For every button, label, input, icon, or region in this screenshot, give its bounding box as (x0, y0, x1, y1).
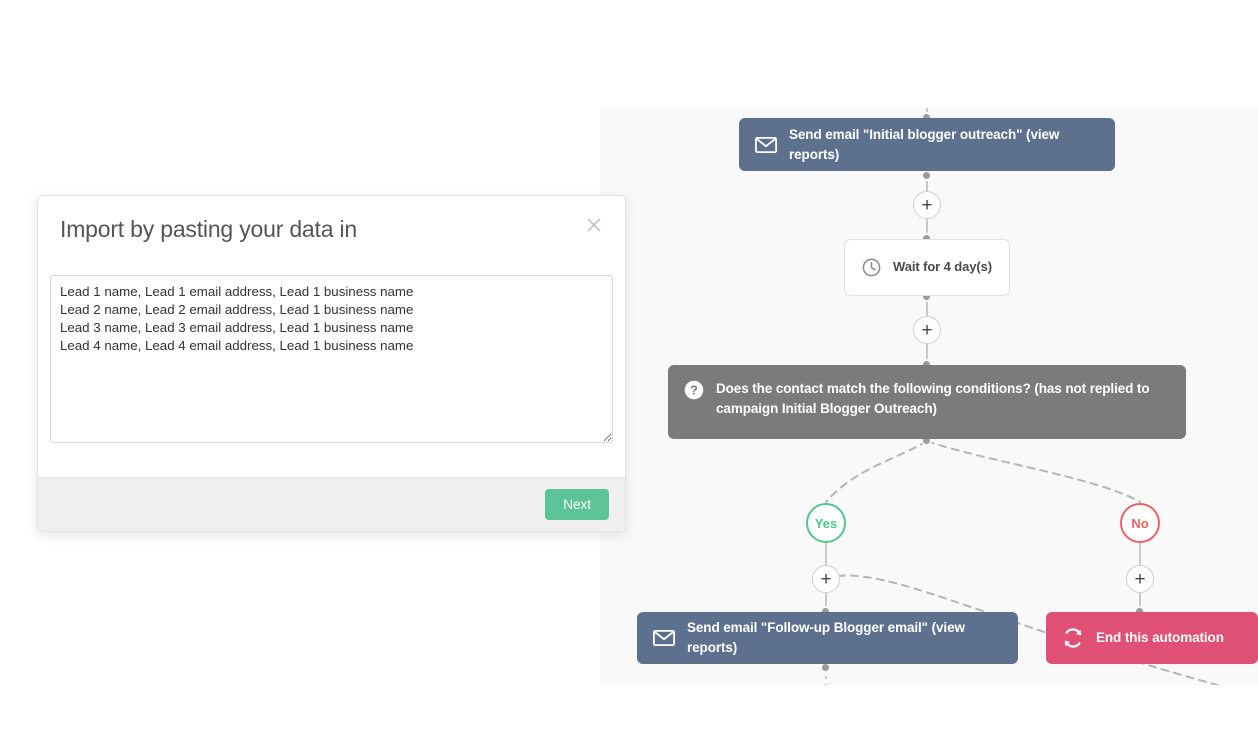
clock-icon (862, 258, 881, 277)
close-icon[interactable] (582, 213, 606, 237)
node-label: Send email "Initial blogger outreach" (v… (789, 125, 1099, 164)
refresh-cycle-icon (1062, 627, 1084, 649)
branch-circle-no[interactable]: No (1120, 503, 1160, 543)
node-label: Does the contact match the following con… (716, 379, 1170, 418)
add-step-button[interactable]: + (913, 191, 941, 219)
node-label: Send email "Follow-up Blogger email" (vi… (687, 618, 1002, 657)
next-button[interactable]: Next (545, 489, 609, 520)
envelope-icon (755, 137, 777, 153)
add-step-button[interactable]: + (913, 316, 941, 344)
node-label: Wait for 4 day(s) (893, 258, 992, 277)
branch-circle-yes[interactable]: Yes (806, 503, 846, 543)
svg-text:?: ? (690, 383, 698, 398)
plus-icon: + (921, 321, 932, 340)
page-title: Import by pasting your data in (60, 216, 357, 243)
add-step-button[interactable]: + (1126, 565, 1154, 593)
automation-node-end-automation[interactable]: End this automation (1046, 612, 1258, 664)
connector-dot (921, 170, 932, 181)
modal-header: Import by pasting your data in (38, 196, 625, 263)
plus-icon: + (1134, 570, 1145, 589)
question-mark-icon: ? (684, 380, 704, 400)
branch-label-no: No (1131, 516, 1148, 531)
automation-node-send-email-followup[interactable]: Send email "Follow-up Blogger email" (vi… (637, 612, 1018, 664)
modal-footer: Next (38, 477, 625, 531)
branch-label-yes: Yes (815, 516, 837, 531)
envelope-icon (653, 630, 675, 646)
automation-node-condition[interactable]: ? Does the contact match the following c… (668, 365, 1186, 439)
modal-body (38, 263, 625, 479)
plus-icon: + (921, 196, 932, 215)
import-modal: Import by pasting your data in Next (37, 195, 626, 532)
node-label: End this automation (1096, 628, 1224, 648)
automation-canvas: Send email "Initial blogger outreach" (v… (600, 108, 1258, 685)
automation-node-wait[interactable]: Wait for 4 day(s) (844, 239, 1010, 296)
add-step-button[interactable]: + (812, 565, 840, 593)
paste-data-textarea[interactable] (50, 275, 613, 443)
automation-node-send-email-initial[interactable]: Send email "Initial blogger outreach" (v… (739, 118, 1115, 171)
app-root: Send email "Initial blogger outreach" (v… (0, 0, 1258, 734)
plus-icon: + (820, 570, 831, 589)
